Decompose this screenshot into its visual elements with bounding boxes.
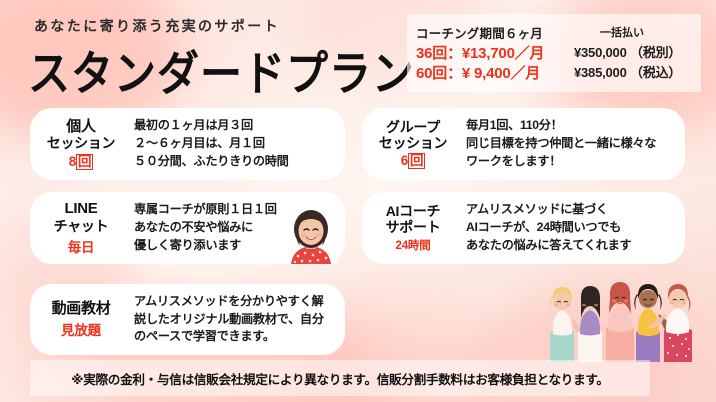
feature-label-main2: サポート xyxy=(362,219,464,235)
coach-photo xyxy=(285,206,337,264)
installment-row-36: 36回：¥13,700／月 xyxy=(416,44,572,64)
feature-label-main: AIコーチ xyxy=(362,203,464,219)
lump-sum-incl-tax: ¥385,000 （税込） xyxy=(574,63,701,83)
count-number: 6 xyxy=(401,153,408,168)
footer-note: ※実際の金利・与信は信販会社規定により異なります。信販分割手数料はお客様負担とな… xyxy=(30,360,650,396)
feature-description: 毎月1回、110分！ 同じ目標を持つ仲間と一緒に様々な ワークをします！ xyxy=(466,117,685,170)
desc-line: あなたの不安や悩みに xyxy=(134,219,277,237)
woman-1 xyxy=(550,287,580,362)
feature-card-ai-coach: AIコーチ サポート 24時間 アムリスメソッドに基づく AIコーチが、24時間… xyxy=(362,192,685,264)
feature-description: 専属コーチが原則１日１回 あなたの不安や悩みに 優しく寄り添います xyxy=(134,201,285,254)
desc-line: ２～６ヶ月目は、月１回 xyxy=(134,135,337,153)
desc-line: アムリスメソッドに基づく xyxy=(466,201,677,219)
feature-card-personal-session: 個人 セッション 8回 最初の１ヶ月は月３回 ２～６ヶ月目は、月１回 ５０分間、… xyxy=(30,108,345,180)
lump-sum-label: 一括払い xyxy=(574,24,701,40)
price-installments-column: コーチング期間６ヶ月 36回：¥13,700／月 60回：¥ 9,400／月 xyxy=(407,23,572,84)
desc-line: ワークをします！ xyxy=(466,153,677,171)
desc-line: ５０分間、ふたりきりの時間 xyxy=(134,153,337,171)
price-panel: コーチング期間６ヶ月 36回：¥13,700／月 60回：¥ 9,400／月 一… xyxy=(407,14,701,92)
feature-label-main2: チャット xyxy=(30,218,132,234)
feature-card-group-session: グループ セッション 6回 毎月1回、110分！ 同じ目標を持つ仲間と一緒に様々… xyxy=(362,108,685,180)
footer-band: ※実際の金利・与信は信販会社規定により異なります。信販分割手数料はお客様負担とな… xyxy=(30,360,650,396)
feature-card-video-materials: 動画教材 見放題 アムリスメソッドを分かりやすく解 説したオリジナル動画教材で、… xyxy=(30,284,345,355)
woman-3 xyxy=(606,282,634,362)
feature-label: 個人 セッション 8回 xyxy=(30,118,134,170)
desc-line: のペースで学習できます。 xyxy=(134,328,337,346)
feature-card-line-chat: LINE チャット 毎日 専属コーチが原則１日１回 あなたの不安や悩みに 優しく… xyxy=(30,192,345,264)
feature-description: 最初の１ヶ月は月３回 ２～６ヶ月目は、月１回 ５０分間、ふたりきりの時間 xyxy=(134,117,345,170)
desc-line: 優しく寄り添います xyxy=(134,237,277,255)
duration-label: コーチング期間６ヶ月 xyxy=(416,23,572,42)
desc-line: 説したオリジナル動画教材で、自分 xyxy=(134,311,337,329)
feature-label: AIコーチ サポート 24時間 xyxy=(362,203,466,253)
feature-label-count: 見放題 xyxy=(30,319,132,339)
desc-line: 最初の１ヶ月は月３回 xyxy=(134,117,337,135)
slide-root: あなたに寄り添う充実のサポート スタンダードプラン コーチング期間６ヶ月 36回… xyxy=(0,0,716,402)
feature-label-count: 24時間 xyxy=(362,237,464,253)
desc-line: 同じ目標を持つ仲間と一緒に様々な xyxy=(466,135,677,153)
feature-label-main: LINE xyxy=(30,200,132,217)
count-unit: 回 xyxy=(408,153,425,169)
feature-label-main: 個人 xyxy=(30,118,132,135)
feature-description: アムリスメソッドを分かりやすく解 説したオリジナル動画教材で、自分 のペースで学… xyxy=(134,293,345,346)
desc-line: 毎月1回、110分！ xyxy=(466,117,677,135)
feature-description: アムリスメソッドに基づく AIコーチが、24時間いつでも あなたの悩みに答えてく… xyxy=(466,201,685,254)
subtitle: あなたに寄り添う充実のサポート xyxy=(34,16,280,36)
feature-label-count: 8回 xyxy=(30,154,132,170)
woman-2 xyxy=(578,286,602,362)
count-number: 8 xyxy=(69,154,76,169)
feature-label-count: 毎日 xyxy=(30,236,132,256)
feature-label: グループ セッション 6回 xyxy=(362,119,466,170)
feature-label: LINE チャット 毎日 xyxy=(30,200,134,256)
desc-line: あなたの悩みに答えてくれます xyxy=(466,237,677,255)
feature-label-main2: セッション xyxy=(362,135,464,151)
five-women-illustration xyxy=(536,276,712,362)
desc-line: 専属コーチが原則１日１回 xyxy=(134,201,277,219)
page-title: スタンダードプラン xyxy=(28,36,415,104)
desc-line: AIコーチが、24時間いつでも xyxy=(466,219,677,237)
feature-label-main2: セッション xyxy=(30,135,132,151)
price-lumpsum-column: 一括払い ¥350,000 （税別） ¥385,000 （税込） xyxy=(572,24,701,83)
feature-label-main: 動画教材 xyxy=(30,300,132,317)
lump-sum-excl-tax: ¥350,000 （税別） xyxy=(574,43,701,63)
feature-label-count: 6回 xyxy=(362,153,464,169)
feature-label-main: グループ xyxy=(362,119,464,135)
feature-label: 動画教材 見放題 xyxy=(30,300,134,339)
desc-line: アムリスメソッドを分かりやすく解 xyxy=(134,293,337,311)
installment-row-60: 60回：¥ 9,400／月 xyxy=(416,64,572,84)
count-unit: 回 xyxy=(76,154,93,170)
